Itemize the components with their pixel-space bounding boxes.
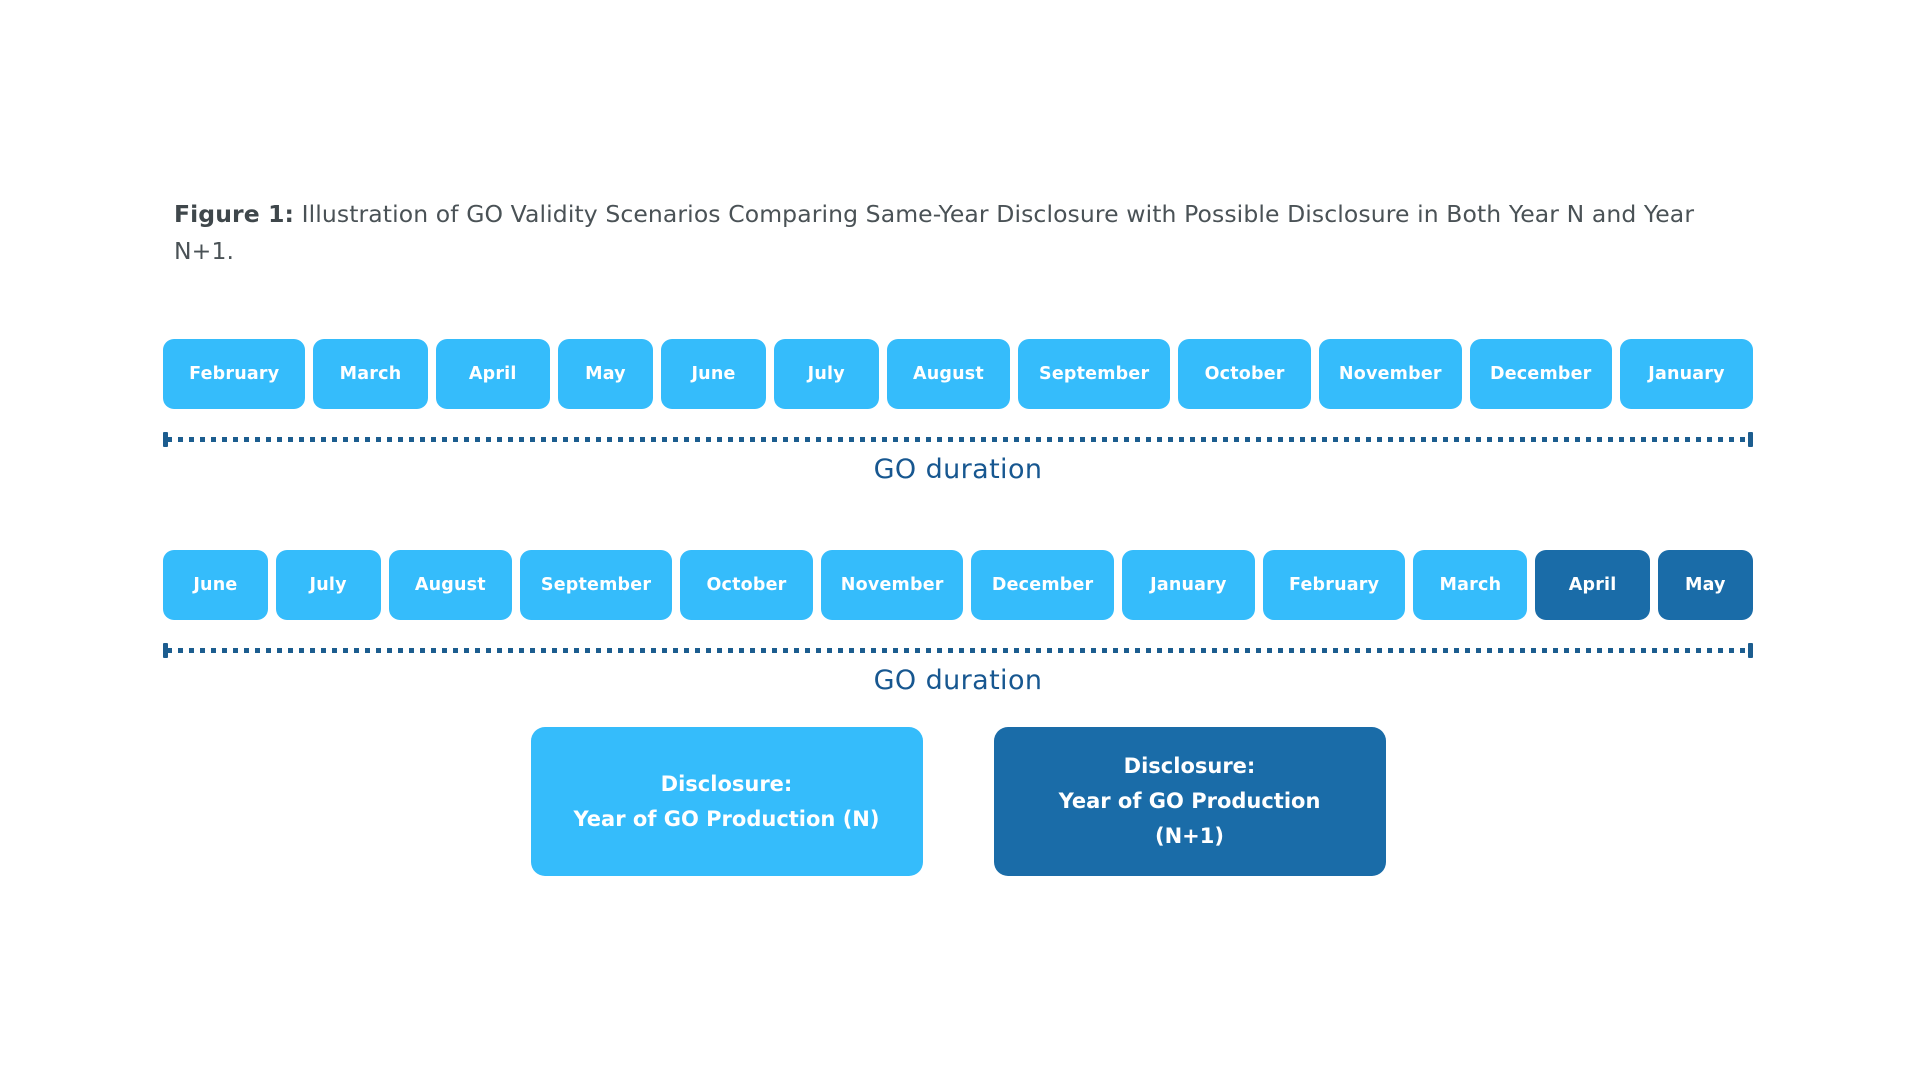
month-cell-december: December bbox=[1470, 339, 1612, 409]
bracket-right-cap-icon bbox=[1748, 643, 1753, 658]
month-cell-september: September bbox=[520, 550, 672, 620]
figure-caption: Figure 1: Illustration of GO Validity Sc… bbox=[174, 196, 1754, 270]
go-duration-bracket-scenario-2: GO duration bbox=[163, 643, 1753, 696]
month-cell-august: August bbox=[887, 339, 1011, 409]
month-cell-march: March bbox=[1413, 550, 1527, 620]
timeline-row-scenario-1: FebruaryMarchAprilMayJuneJulyAugustSepte… bbox=[163, 337, 1753, 411]
legend-card-year-n-plus-1: Disclosure: Year of GO Production (N+1) bbox=[994, 727, 1386, 876]
month-cell-april: April bbox=[436, 339, 550, 409]
month-cell-january: January bbox=[1122, 550, 1255, 620]
month-cell-february: February bbox=[1263, 550, 1405, 620]
month-cell-may: May bbox=[558, 339, 653, 409]
legend-card-year-n-line2: Year of GO Production (N) bbox=[561, 802, 893, 837]
month-cell-february: February bbox=[163, 339, 305, 409]
month-cell-may: May bbox=[1658, 550, 1753, 620]
figure-caption-label: Figure 1: bbox=[174, 200, 294, 228]
legend: Disclosure: Year of GO Production (N) Di… bbox=[163, 727, 1753, 876]
timeline-row-scenario-2: JuneJulyAugustSeptemberOctoberNovemberDe… bbox=[163, 548, 1753, 622]
dotted-segment bbox=[167, 437, 1749, 442]
go-duration-label-scenario-2: GO duration bbox=[163, 665, 1753, 696]
month-cell-october: October bbox=[1178, 339, 1311, 409]
figure-caption-text: Illustration of GO Validity Scenarios Co… bbox=[174, 200, 1694, 265]
bracket-right-cap-icon bbox=[1748, 432, 1753, 447]
month-cell-april: April bbox=[1535, 550, 1649, 620]
go-duration-label-scenario-1: GO duration bbox=[163, 454, 1753, 485]
legend-card-year-n: Disclosure: Year of GO Production (N) bbox=[531, 727, 923, 876]
month-cell-november: November bbox=[821, 550, 963, 620]
month-cell-august: August bbox=[389, 550, 513, 620]
month-cell-january: January bbox=[1620, 339, 1753, 409]
month-cell-july: July bbox=[774, 339, 879, 409]
legend-card-year-n-plus-1-line2: Year of GO Production (N+1) bbox=[1024, 784, 1356, 854]
month-cell-june: June bbox=[163, 550, 268, 620]
month-cell-june: June bbox=[661, 339, 766, 409]
dotted-duration-line bbox=[163, 432, 1753, 446]
legend-card-year-n-line1: Disclosure: bbox=[561, 767, 893, 802]
dotted-duration-line bbox=[163, 643, 1753, 657]
month-cell-march: March bbox=[313, 339, 427, 409]
legend-card-year-n-plus-1-line1: Disclosure: bbox=[1024, 749, 1356, 784]
figure-container: Figure 1: Illustration of GO Validity Sc… bbox=[0, 0, 1920, 1080]
go-duration-bracket-scenario-1: GO duration bbox=[163, 432, 1753, 485]
month-cell-july: July bbox=[276, 550, 381, 620]
dotted-segment bbox=[167, 648, 1749, 653]
month-cell-december: December bbox=[971, 550, 1113, 620]
month-cell-october: October bbox=[680, 550, 813, 620]
month-cell-september: September bbox=[1018, 339, 1170, 409]
month-cell-november: November bbox=[1319, 339, 1461, 409]
